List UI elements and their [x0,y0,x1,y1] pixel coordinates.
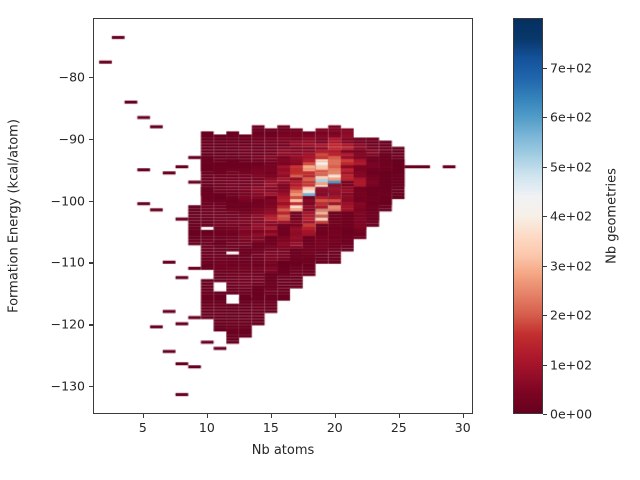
x-tick-mark [463,414,464,418]
colorbar-tick-label: 4e+02 [550,209,592,224]
colorbar-tick-mark [543,216,547,217]
y-axis-label: Formation Energy (kcal/atom) [7,119,22,313]
colorbar-tick-label: 1e+02 [550,357,592,372]
figure-canvas: 51015202530−80−90−100−110−120−1300e+001e… [0,0,640,480]
colorbar-tick-mark [543,365,547,366]
x-tick-label: 20 [327,420,343,435]
y-tick-label: −130 [51,379,85,394]
x-tick-label: 10 [199,420,215,435]
colorbar-tick-mark [543,117,547,118]
x-axis-label: Nb atoms [252,443,315,458]
colorbar-tick-label: 2e+02 [550,308,592,323]
x-tick-mark [271,414,272,418]
y-tick-label: −120 [51,317,85,332]
x-tick-mark [143,414,144,418]
colorbar-tick-mark [543,68,547,69]
x-tick-label: 30 [455,420,471,435]
heatmap-2d-histogram [94,19,472,413]
colorbar-tick-label: 5e+02 [550,159,592,174]
colorbar-tick-label: 7e+02 [550,60,592,75]
y-tick-mark [89,201,93,202]
x-tick-label: 15 [263,420,279,435]
y-tick-mark [89,324,93,325]
colorbar-tick-label: 6e+02 [550,110,592,125]
y-tick-label: −110 [51,255,85,270]
x-tick-mark [335,414,336,418]
y-tick-mark [89,262,93,263]
colorbar [513,18,543,414]
x-tick-mark [207,414,208,418]
colorbar-gradient [514,19,542,413]
y-tick-label: −80 [59,69,85,84]
y-tick-label: −100 [51,193,85,208]
colorbar-tick-mark [543,414,547,415]
colorbar-tick-mark [543,167,547,168]
colorbar-label: Nb geometries [605,168,620,264]
y-tick-mark [89,139,93,140]
y-tick-mark [89,77,93,78]
x-tick-mark [399,414,400,418]
y-tick-label: −90 [59,131,85,146]
colorbar-tick-label: 3e+02 [550,258,592,273]
colorbar-tick-mark [543,315,547,316]
colorbar-tick-label: 0e+00 [550,407,592,422]
x-tick-label: 25 [391,420,407,435]
colorbar-tick-mark [543,266,547,267]
y-tick-mark [89,386,93,387]
x-tick-label: 5 [139,420,147,435]
plot-axes [93,18,473,414]
